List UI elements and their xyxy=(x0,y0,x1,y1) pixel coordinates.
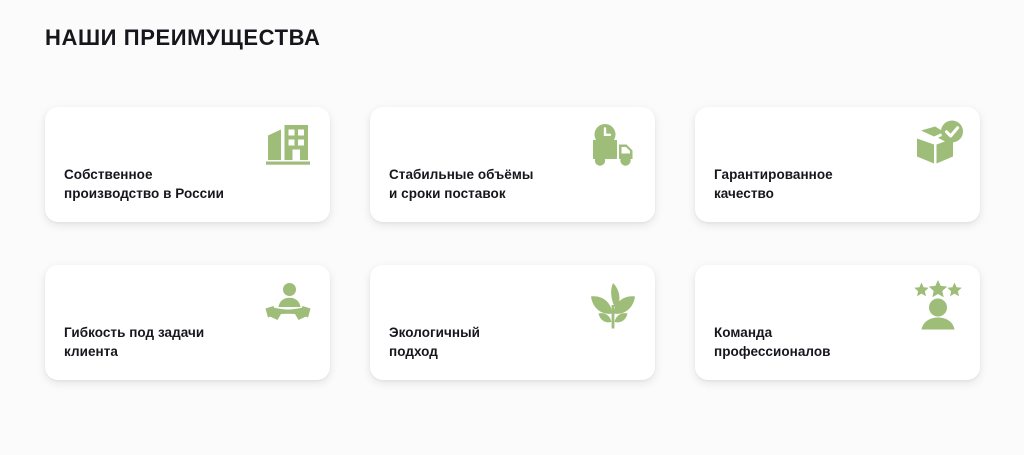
advantage-card-eco-approach[interactable]: Экологичный подход xyxy=(370,265,655,380)
advantage-card-professional-team[interactable]: Команда профессионалов xyxy=(695,265,980,380)
advantage-card-client-flexibility[interactable]: Гибкость под задачи клиента xyxy=(45,265,330,380)
advantages-section: НАШИ ПРЕИМУЩЕСТВА xyxy=(0,0,1024,455)
advantage-card-title: Команда профессионалов xyxy=(714,323,968,362)
advantage-card-title: Экологичный подход xyxy=(389,323,643,362)
advantage-card-guaranteed-quality[interactable]: Гарантированное качество xyxy=(695,107,980,222)
page-title: НАШИ ПРЕИМУЩЕСТВА xyxy=(45,27,321,49)
advantage-card-title: Гарантированное качество xyxy=(714,165,968,204)
advantage-card-stable-volumes[interactable]: Стабильные объёмы и сроки поставок xyxy=(370,107,655,222)
advantage-card-title: Стабильные объёмы и сроки поставок xyxy=(389,165,643,204)
advantages-card-grid: Собственное производство в России xyxy=(45,107,979,380)
advantage-card-own-production[interactable]: Собственное производство в России xyxy=(45,107,330,222)
advantage-card-title: Собственное производство в России xyxy=(64,165,318,204)
advantage-card-title: Гибкость под задачи клиента xyxy=(64,323,318,362)
